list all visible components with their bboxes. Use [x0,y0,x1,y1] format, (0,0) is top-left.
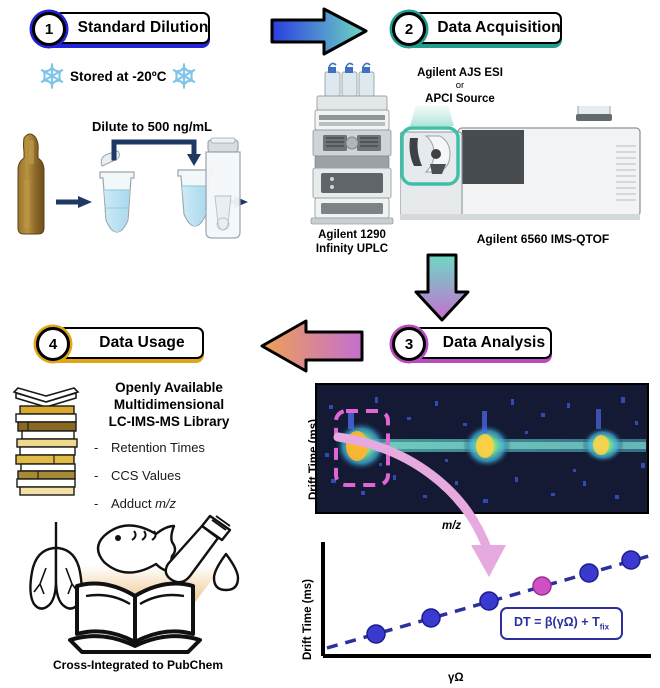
source-label-or: or [396,80,524,92]
ion-source-caption: Agilent AJS ESI or APCI Source [396,66,524,107]
data-point [580,564,598,582]
storage-text: Stored at -20ºC [70,69,166,84]
step-4-label: Data Usage [99,334,184,352]
pubchem-caption-text: Cross-Integrated to PubChem [14,658,262,673]
step-3-label: Data Analysis [443,334,545,352]
calibration-plot [313,538,653,668]
step-3-number: 3 [392,327,426,361]
arrow-step1-to-step2 [268,6,372,58]
source-label-line3: APCI Source [396,92,524,106]
arrow-step2-to-step3 [404,252,480,324]
step-1-number-text: 1 [45,21,53,38]
flow-arrow-1 [56,196,92,208]
library-title-line3: LC-IMS-MS Library [84,414,254,431]
uplc-instrument-icon [303,58,401,228]
workflow-diagram: Standard Dilution 1 Stored at -20ºC [0,0,660,688]
step-4-header: Data Usage 4 [36,327,204,361]
bullet-dash: - [94,468,102,483]
microcentrifuge-tube-icon [100,151,134,232]
step-1-label: Standard Dilution [78,19,209,37]
fish-icon [98,525,175,572]
snowflake-icon [38,62,66,90]
library-title-line2: Multidimensional [84,397,254,414]
list-item: - Retention Times [94,440,269,455]
step-4-number-text: 4 [49,336,57,353]
equation-text: DT = β(γΩ) + T [514,615,600,629]
arrow-step3-to-step4 [256,318,368,374]
source-label-line1: Agilent AJS ESI [396,66,524,80]
uplc-label-line2: Infinity UPLC [300,242,404,256]
pubchem-caption: Cross-Integrated to PubChem [14,658,262,673]
library-feature-list: - Retention Times - CCS Values - Adduct … [94,440,269,511]
equation-subscript: fix [600,623,609,632]
step-3-box: Data Analysis [414,327,552,359]
step-4-number: 4 [36,327,70,361]
step-1-number: 1 [32,12,66,46]
bullet-dash: - [94,440,102,455]
bullet-text: Retention Times [111,440,205,455]
calibration-xlabel: γΩ [448,668,464,686]
data-point [367,625,385,643]
step-2-box: Data Acquisition [414,12,562,44]
open-book-icon [70,584,200,652]
step-2-number-text: 2 [405,21,413,38]
qtof-instrument-icon [400,106,650,238]
qtof-label: Agilent 6560 IMS-QTOF [438,232,648,247]
uplc-label-line1: Agilent 1290 [300,228,404,242]
uplc-caption: Agilent 1290 Infinity UPLC [300,228,404,257]
step-3-number-text: 3 [405,336,413,353]
library-title-line1: Openly Available [84,380,254,397]
sample-matrices-group [10,508,260,658]
step-3-header: Data Analysis 3 [392,327,552,361]
data-point [480,592,498,610]
calibration-equation: DT = β(γΩ) + Tfix [500,607,623,640]
step-2-number: 2 [392,12,426,46]
step-2-header: Data Acquisition 2 [392,12,562,46]
snowflake-icon [170,62,198,90]
ampoule-icon [18,134,44,234]
qtof-caption: Agilent 6560 IMS-QTOF [438,232,648,247]
data-point [622,551,640,569]
data-point [422,609,440,627]
bullet-text: CCS Values [111,468,181,483]
library-title: Openly Available Multidimensional LC-IMS… [84,380,254,431]
data-point-highlighted [533,577,551,595]
book-stack-icon [8,378,86,502]
step-1-header: Standard Dilution 1 [32,12,210,46]
list-item: - CCS Values [94,468,269,483]
step-4-box: Data Usage [58,327,204,359]
lungs-icon [30,522,81,609]
sample-vial-icon [196,136,258,244]
transfer-arrow [114,142,201,166]
storage-condition: Stored at -20ºC [38,62,216,90]
step-1-box: Standard Dilution [54,12,210,44]
step-2-label: Data Acquisition [437,19,560,37]
